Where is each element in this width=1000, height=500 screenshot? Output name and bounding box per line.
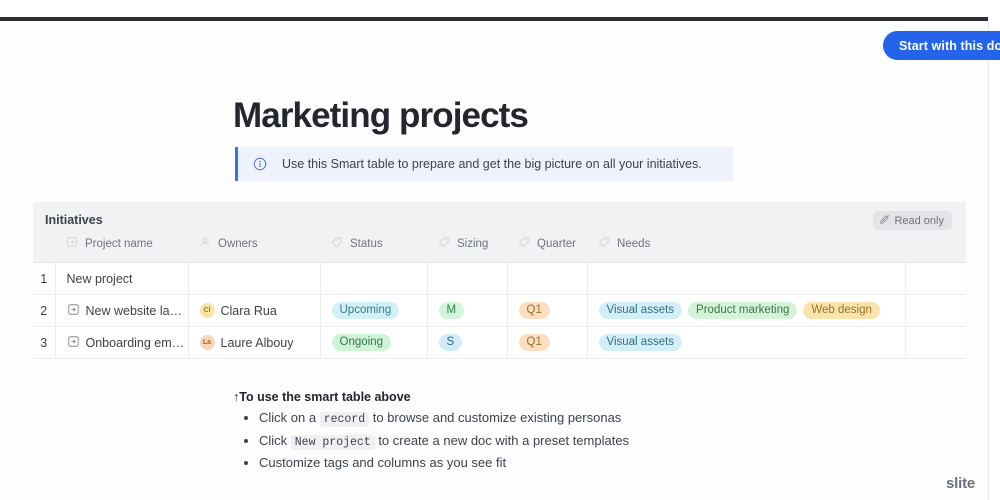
instruction-text: Click on a bbox=[259, 410, 320, 425]
doc-column-icon bbox=[66, 236, 78, 251]
smart-table: Initiatives Read only bbox=[33, 202, 966, 359]
cell-quarter[interactable]: Q1 bbox=[507, 295, 587, 327]
project-name-label: New website launch bbox=[86, 304, 188, 318]
table-body: 1New project2New website launchClClara R… bbox=[33, 263, 966, 359]
tag-pill: Product marketing bbox=[688, 302, 797, 319]
pencil-slash-icon bbox=[879, 214, 890, 228]
smart-table-header-band: Initiatives Read only bbox=[33, 202, 966, 263]
cell-status[interactable]: Upcoming bbox=[320, 295, 427, 327]
inline-code: record bbox=[320, 412, 369, 427]
tag-pill: Visual assets bbox=[599, 334, 683, 351]
smart-table-title: Initiatives bbox=[33, 202, 966, 236]
cell-quarter[interactable]: Q1 bbox=[507, 327, 587, 359]
avatar: Cl bbox=[200, 303, 215, 318]
cell-needs[interactable]: Visual assetsProduct marketingWeb design bbox=[587, 295, 905, 327]
owner-name: Laure Albouy bbox=[221, 336, 294, 350]
tag-pill: Visual assets bbox=[599, 302, 683, 319]
slite-logo: slite bbox=[946, 475, 975, 492]
row-index: 1 bbox=[33, 263, 55, 295]
table-row[interactable]: 3Onboarding emailsLaLaure AlbouyOngoingS… bbox=[33, 327, 966, 359]
column-header-sizing[interactable]: Sizing bbox=[427, 236, 507, 262]
cell-quarter[interactable] bbox=[507, 263, 587, 295]
smart-table-columns: Project name O bbox=[33, 236, 966, 262]
document-page: Marketing projects Use this Smart table … bbox=[0, 21, 989, 500]
cell-end bbox=[905, 263, 966, 295]
tag-icon bbox=[438, 236, 450, 251]
cell-status[interactable]: Ongoing bbox=[320, 327, 427, 359]
instructions-heading: ↑To use the smart table above bbox=[233, 390, 753, 404]
tag-icon bbox=[518, 236, 530, 251]
page-title: Marketing projects bbox=[233, 96, 528, 136]
cell-owner[interactable] bbox=[188, 263, 320, 295]
instruction-item: Click New project to create a new doc wi… bbox=[259, 432, 753, 452]
column-header-owners[interactable]: Owners bbox=[188, 236, 320, 262]
column-header-label: Status bbox=[350, 238, 383, 250]
cell-end bbox=[905, 327, 966, 359]
instruction-item: Customize tags and columns as you see fi… bbox=[259, 454, 753, 473]
doc-icon bbox=[67, 303, 80, 319]
cell-status[interactable] bbox=[320, 263, 427, 295]
cell-end bbox=[905, 295, 966, 327]
table-row[interactable]: 1New project bbox=[33, 263, 966, 295]
tag-pill: M bbox=[439, 302, 465, 319]
instructions-block: ↑To use the smart table above Click on a… bbox=[233, 390, 753, 476]
info-callout: Use this Smart table to prepare and get … bbox=[235, 147, 733, 181]
column-header-needs[interactable]: Needs bbox=[587, 236, 905, 262]
instruction-text: Customize tags and columns as you see fi… bbox=[259, 455, 506, 470]
cell-sizing[interactable]: M bbox=[427, 295, 507, 327]
inline-code: New project bbox=[291, 435, 375, 450]
tag-icon bbox=[331, 236, 343, 251]
column-header-label: Project name bbox=[85, 238, 153, 250]
instruction-text: to create a new doc with a preset templa… bbox=[375, 433, 629, 448]
column-header-label: Quarter bbox=[537, 238, 576, 250]
column-header-label: Owners bbox=[218, 238, 258, 250]
cell-needs[interactable]: Visual assets bbox=[587, 327, 905, 359]
info-callout-text: Use this Smart table to prepare and get … bbox=[282, 157, 702, 171]
table-row[interactable]: 2New website launchClClara RuaUpcomingMQ… bbox=[33, 295, 966, 327]
table-header-row: Project name O bbox=[33, 236, 966, 262]
column-header-label: Sizing bbox=[457, 238, 488, 250]
owner-name: Clara Rua bbox=[221, 304, 277, 318]
project-name-label: Onboarding emails bbox=[86, 336, 188, 350]
avatar: La bbox=[200, 335, 215, 350]
tag-pill: Ongoing bbox=[332, 334, 391, 351]
instructions-heading-text: To use the smart table above bbox=[239, 390, 410, 404]
column-header-index bbox=[33, 236, 55, 262]
tag-pill: S bbox=[439, 334, 463, 351]
cell-sizing[interactable] bbox=[427, 263, 507, 295]
cell-owner[interactable]: ClClara Rua bbox=[188, 295, 320, 327]
column-header-quarter[interactable]: Quarter bbox=[507, 236, 587, 262]
tag-icon bbox=[598, 236, 610, 251]
person-icon bbox=[199, 236, 211, 251]
cell-project-name[interactable]: New website launch bbox=[55, 295, 188, 327]
cell-needs[interactable] bbox=[587, 263, 905, 295]
app-screen: Marketing projects Use this Smart table … bbox=[0, 0, 1000, 500]
cell-project-name[interactable]: Onboarding emails bbox=[55, 327, 188, 359]
instruction-text: Click bbox=[259, 433, 291, 448]
info-circle-icon bbox=[253, 157, 267, 171]
tag-pill: Q1 bbox=[519, 302, 550, 319]
project-name-label: New project bbox=[67, 272, 133, 286]
tag-pill: Upcoming bbox=[332, 302, 400, 319]
start-with-this-doc-button[interactable]: Start with this doc bbox=[883, 31, 1000, 60]
read-only-label: Read only bbox=[894, 215, 944, 227]
cell-owner[interactable]: LaLaure Albouy bbox=[188, 327, 320, 359]
column-header-label: Needs bbox=[617, 238, 650, 250]
column-header-status[interactable]: Status bbox=[320, 236, 427, 262]
tag-pill: Q1 bbox=[519, 334, 550, 351]
read-only-badge[interactable]: Read only bbox=[873, 211, 952, 230]
cell-project-name[interactable]: New project bbox=[55, 263, 188, 295]
column-header-add[interactable] bbox=[905, 236, 966, 262]
instruction-text: to browse and customize existing persona… bbox=[369, 410, 621, 425]
smart-table-body: 1New project2New website launchClClara R… bbox=[33, 263, 966, 359]
instruction-item: Click on a record to browse and customiz… bbox=[259, 409, 753, 429]
row-index: 2 bbox=[33, 295, 55, 327]
cell-sizing[interactable]: S bbox=[427, 327, 507, 359]
tag-pill: Web design bbox=[803, 302, 880, 319]
row-index: 3 bbox=[33, 327, 55, 359]
doc-icon bbox=[67, 335, 80, 351]
column-header-project-name[interactable]: Project name bbox=[55, 236, 188, 262]
instructions-list: Click on a record to browse and customiz… bbox=[233, 409, 753, 473]
